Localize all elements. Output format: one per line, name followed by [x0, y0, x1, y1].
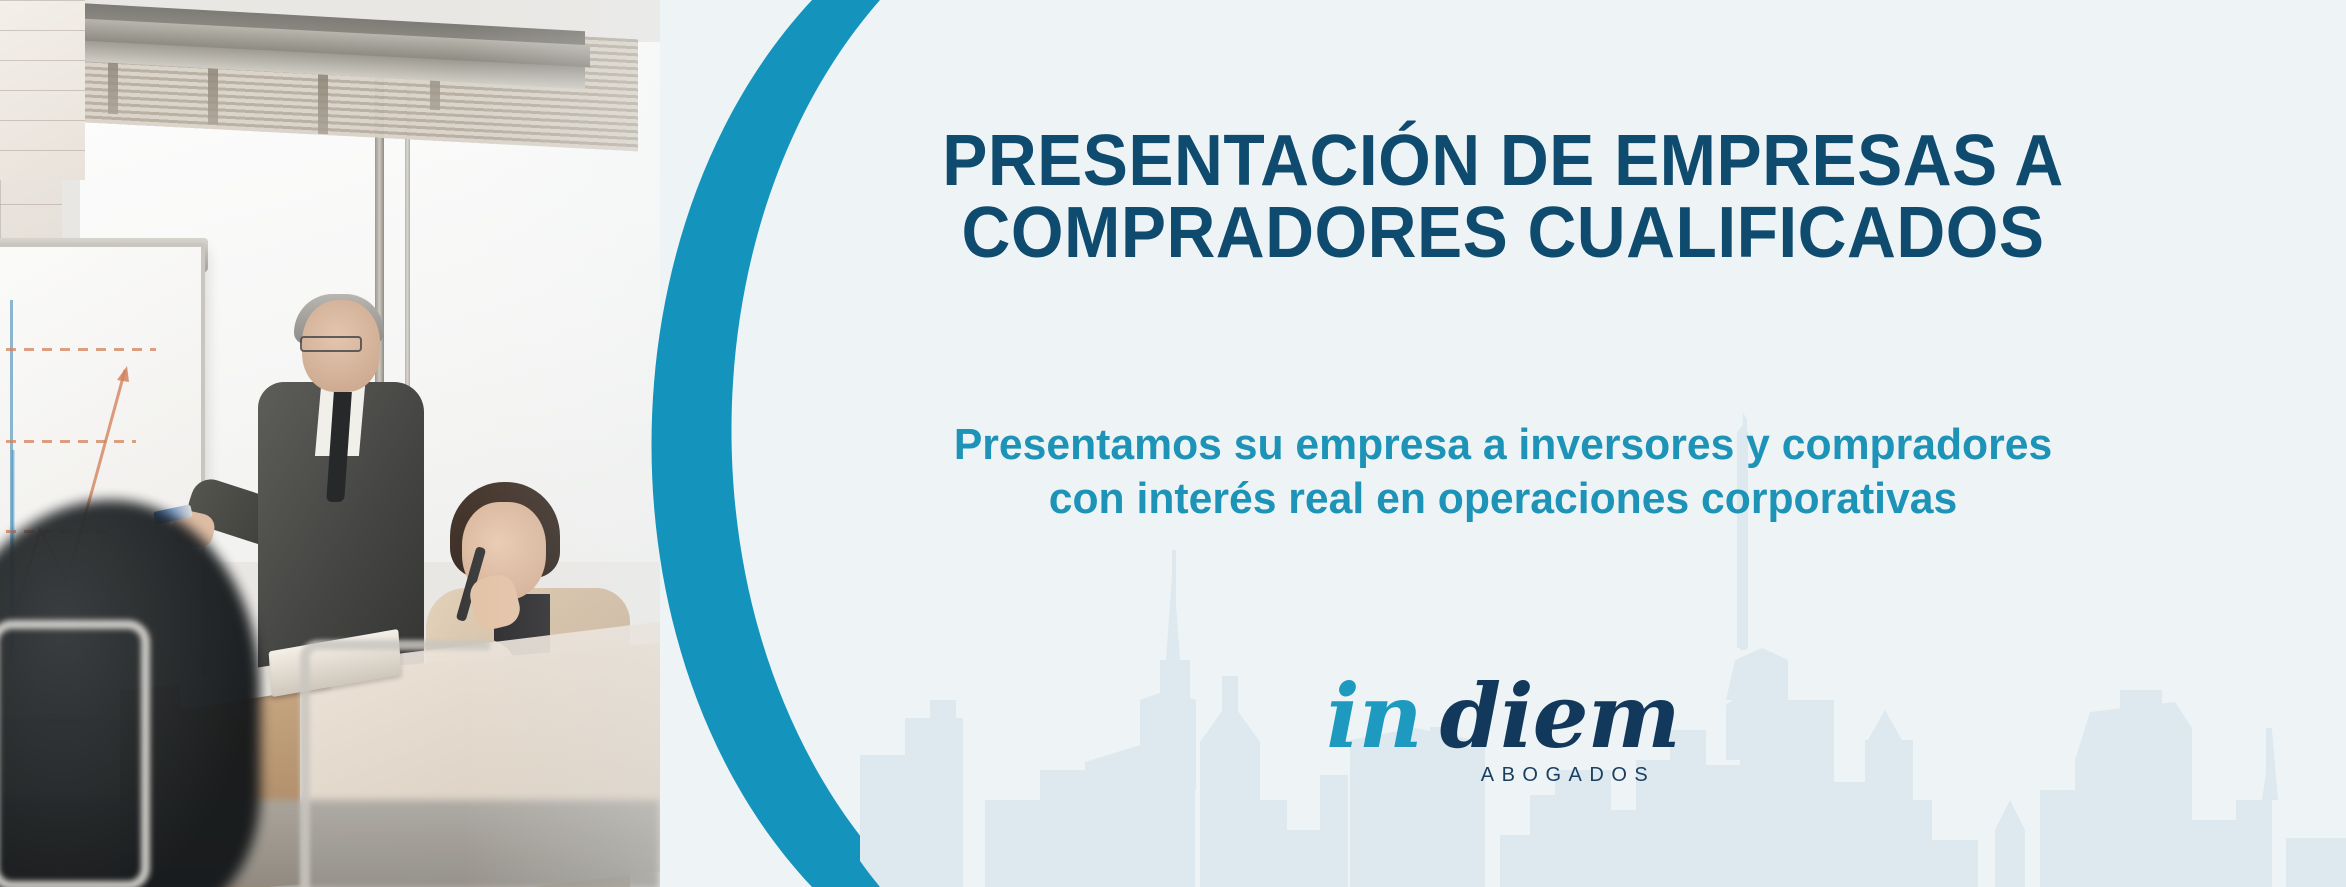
- logo-word-diem: diem: [1440, 664, 1680, 768]
- banner-content: PRESENTACIÓN DE EMPRESAS A COMPRADORES C…: [660, 0, 2346, 887]
- banner-subtitle: Presentamos su empresa a inversores y co…: [685, 418, 2320, 525]
- subtitle-line-1: Presentamos su empresa a inversores y co…: [685, 418, 2320, 472]
- banner-title: PRESENTACIÓN DE EMPRESAS A COMPRADORES C…: [711, 125, 2296, 269]
- subtitle-line-2: con interés real en operaciones corporat…: [685, 472, 2320, 526]
- logo-wordmark: indiem: [660, 672, 2346, 760]
- in-diem-logo: indiem ABOGADOS: [660, 672, 2346, 787]
- title-line-2: COMPRADORES CUALIFICADOS: [711, 197, 2296, 269]
- hero-banner: PRESENTACIÓN DE EMPRESAS A COMPRADORES C…: [0, 0, 2346, 887]
- logo-tagline: ABOGADOS: [660, 764, 2346, 787]
- logo-word-in: in: [1326, 664, 1421, 768]
- title-line-1: PRESENTACIÓN DE EMPRESAS A: [711, 125, 2296, 197]
